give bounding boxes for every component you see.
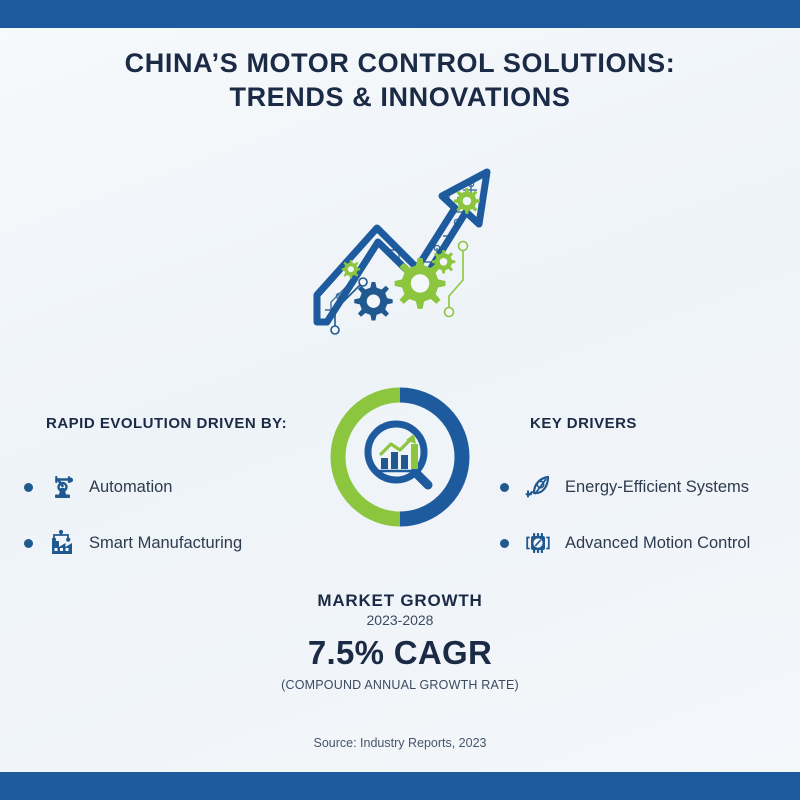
factory-icon: [47, 528, 77, 558]
bottom-accent-bar: [0, 772, 800, 800]
bullet-dot: [24, 539, 33, 548]
list-item[interactable]: Advanced Motion Control: [500, 526, 790, 560]
market-growth-period: 2023-2028: [0, 611, 800, 630]
title-line-1: CHINA’S MOTOR CONTROL SOLUTIONS:: [0, 46, 800, 80]
left-column: RAPID EVOLUTION DRIVEN BY: Automation: [24, 415, 314, 582]
right-column: KEY DRIVERS Energy-Efficient Systems: [500, 415, 790, 582]
top-accent-bar: [0, 0, 800, 28]
bullet-dot: [500, 539, 509, 548]
market-growth-value: 7.5% CAGR: [0, 632, 800, 674]
list-item-label: Energy-Efficient Systems: [565, 478, 749, 497]
market-growth-donut-chart: [325, 382, 475, 532]
growth-arrow-circuit-gears-graphic: [305, 150, 505, 345]
list-item[interactable]: Automation: [24, 470, 314, 504]
market-growth-title: MARKET GROWTH: [0, 590, 800, 611]
magnifying-glass-bar-chart-icon: [368, 424, 428, 485]
list-item-label: Automation: [89, 478, 172, 497]
right-column-heading: KEY DRIVERS: [500, 415, 790, 432]
list-item-label: Advanced Motion Control: [565, 534, 750, 553]
donut-segment-blue: [400, 395, 462, 519]
market-growth-block: MARKET GROWTH 2023-2028 7.5% CAGR (COMPO…: [0, 590, 800, 694]
robot-arm-icon: [47, 472, 77, 502]
bullet-dot: [500, 483, 509, 492]
list-item[interactable]: Smart Manufacturing: [24, 526, 314, 560]
left-column-heading: RAPID EVOLUTION DRIVEN BY:: [24, 415, 314, 432]
list-item-label: Smart Manufacturing: [89, 534, 242, 553]
source-note: Source: Industry Reports, 2023: [0, 736, 800, 750]
motor-drive-icon: [523, 528, 553, 558]
page-title: CHINA’S MOTOR CONTROL SOLUTIONS: TRENDS …: [0, 46, 800, 114]
leaf-plug-icon: [523, 472, 553, 502]
bullet-dot: [24, 483, 33, 492]
infographic-canvas: CHINA’S MOTOR CONTROL SOLUTIONS: TRENDS …: [0, 0, 800, 800]
market-growth-note: (COMPOUND ANNUAL GROWTH RATE): [0, 676, 800, 694]
title-line-2: TRENDS & INNOVATIONS: [0, 80, 800, 114]
list-item[interactable]: Energy-Efficient Systems: [500, 470, 790, 504]
